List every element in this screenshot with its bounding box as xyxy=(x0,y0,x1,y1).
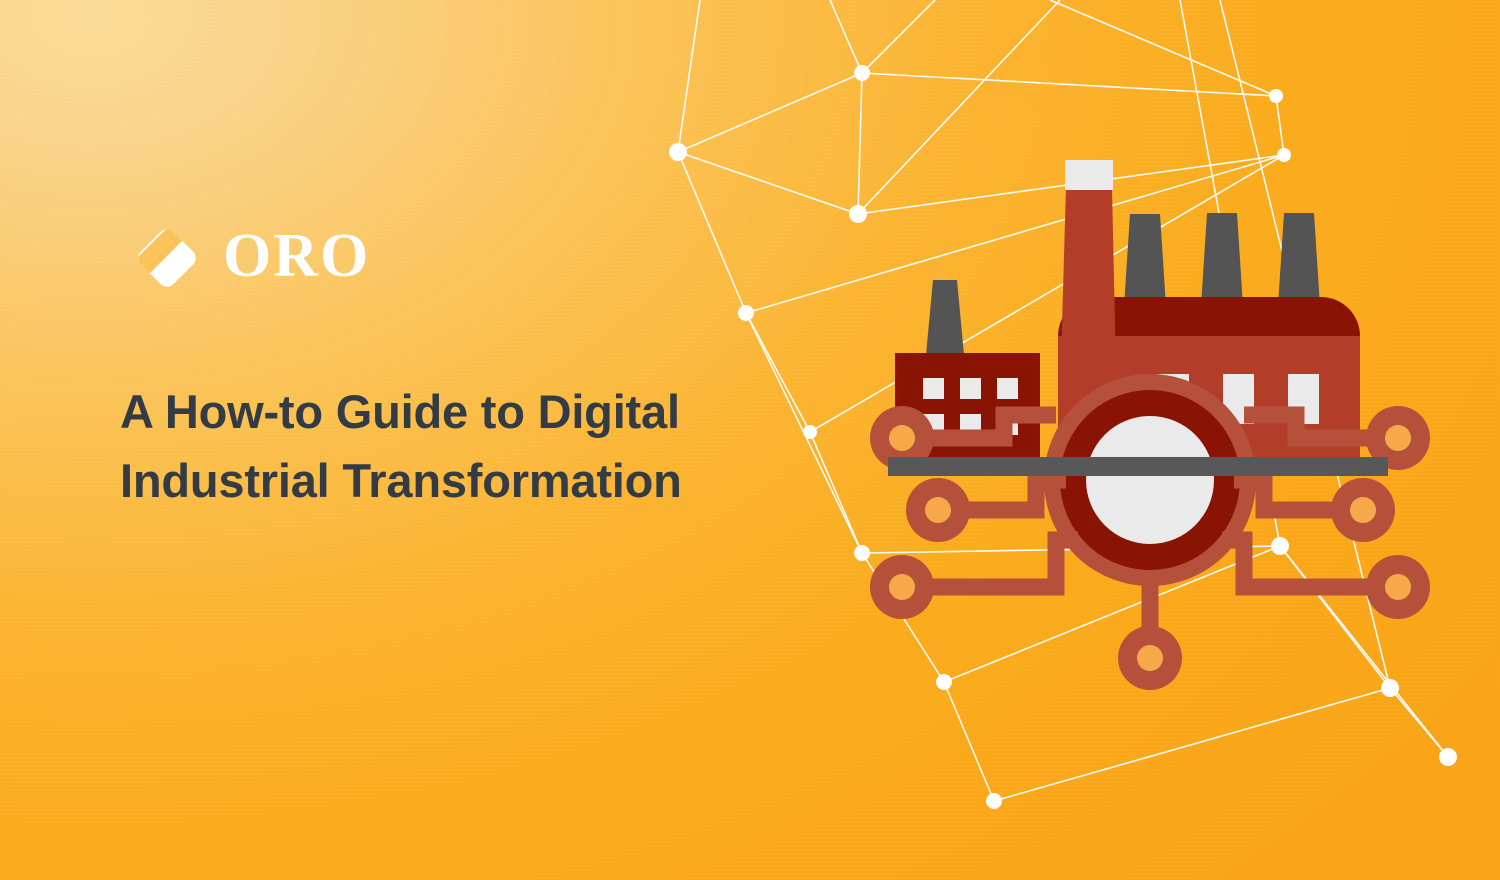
network-line xyxy=(678,152,746,313)
network-dot xyxy=(738,305,754,321)
marketing-banner: ORO A How-to Guide to Digital Industrial… xyxy=(0,0,1500,880)
network-line xyxy=(678,152,858,214)
circuit-hub xyxy=(1044,374,1256,586)
network-line xyxy=(862,0,935,73)
factory-base-bar xyxy=(888,457,1388,476)
network-line xyxy=(1276,96,1284,155)
chimney-cap xyxy=(1065,160,1113,190)
page-title: A How-to Guide to Digital Industrial Tra… xyxy=(120,378,820,515)
headline-line-1: A How-to Guide to Digital xyxy=(120,378,820,447)
small-window xyxy=(923,378,944,399)
network-dot xyxy=(986,793,1002,809)
network-line xyxy=(678,73,862,152)
circuit-node xyxy=(906,478,970,542)
circuit-node xyxy=(1366,555,1430,619)
network-line xyxy=(678,0,700,152)
network-dot xyxy=(669,143,687,161)
digital-factory-illustration xyxy=(860,150,1440,720)
network-dot xyxy=(1269,89,1283,103)
small-window xyxy=(960,378,981,399)
oro-wordmark: ORO xyxy=(223,225,370,287)
network-dot xyxy=(1439,748,1457,766)
oro-logo[interactable]: ORO xyxy=(131,222,370,294)
network-dot xyxy=(854,65,870,81)
network-line xyxy=(1050,0,1276,96)
network-line xyxy=(862,73,1276,96)
circuit-node xyxy=(1331,478,1395,542)
left-smokestack xyxy=(926,280,964,355)
small-window xyxy=(997,378,1018,399)
network-line xyxy=(830,0,862,73)
circuit-node xyxy=(870,555,934,619)
circuit-node xyxy=(1118,626,1182,690)
oro-diamond-logo-icon xyxy=(131,222,203,294)
headline-line-2: Industrial Transformation xyxy=(120,447,820,516)
